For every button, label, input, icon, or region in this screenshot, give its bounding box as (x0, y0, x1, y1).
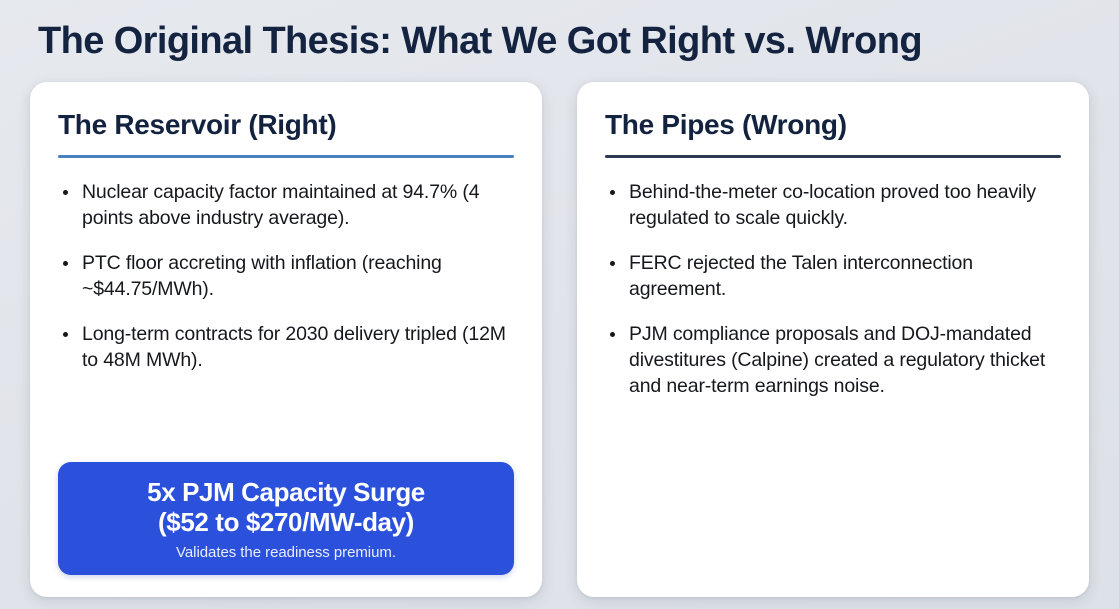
list-item: PTC floor accreting with inflation (reac… (58, 251, 514, 303)
list-item: Nuclear capacity factor maintained at 94… (58, 180, 514, 232)
page-title: The Original Thesis: What We Got Right v… (38, 20, 1089, 64)
card-header-pipes: The Pipes (Wrong) (605, 108, 1061, 142)
card-header-reservoir: The Reservoir (Right) (58, 108, 514, 142)
callout-subtitle: Validates the readiness premium. (74, 544, 498, 561)
right-card-spacer (605, 400, 1061, 575)
list-item: Behind-the-meter co-location proved too … (605, 180, 1061, 232)
card-rule-pipes (605, 155, 1061, 158)
list-item: Long-term contracts for 2030 delivery tr… (58, 322, 514, 374)
bullet-list-pipes: Behind-the-meter co-location proved too … (605, 180, 1061, 399)
callout-headline-line2: ($52 to $270/MW-day) (74, 507, 498, 538)
card-reservoir-right: The Reservoir (Right) Nuclear capacity f… (30, 82, 542, 597)
card-pipes-wrong: The Pipes (Wrong) Behind-the-meter co-lo… (577, 82, 1089, 597)
card-rule-reservoir (58, 155, 514, 158)
callout-headline-line1: 5x PJM Capacity Surge (74, 477, 498, 508)
left-card-spacer (58, 374, 514, 462)
list-item: FERC rejected the Talen interconnection … (605, 251, 1061, 303)
slide-root: The Original Thesis: What We Got Right v… (0, 0, 1119, 609)
bullet-list-reservoir: Nuclear capacity factor maintained at 94… (58, 180, 514, 374)
list-item: PJM compliance proposals and DOJ-mandate… (605, 322, 1061, 400)
cards-container: The Reservoir (Right) Nuclear capacity f… (30, 82, 1089, 597)
callout-pjm-capacity-surge: 5x PJM Capacity Surge ($52 to $270/MW-da… (58, 462, 514, 575)
